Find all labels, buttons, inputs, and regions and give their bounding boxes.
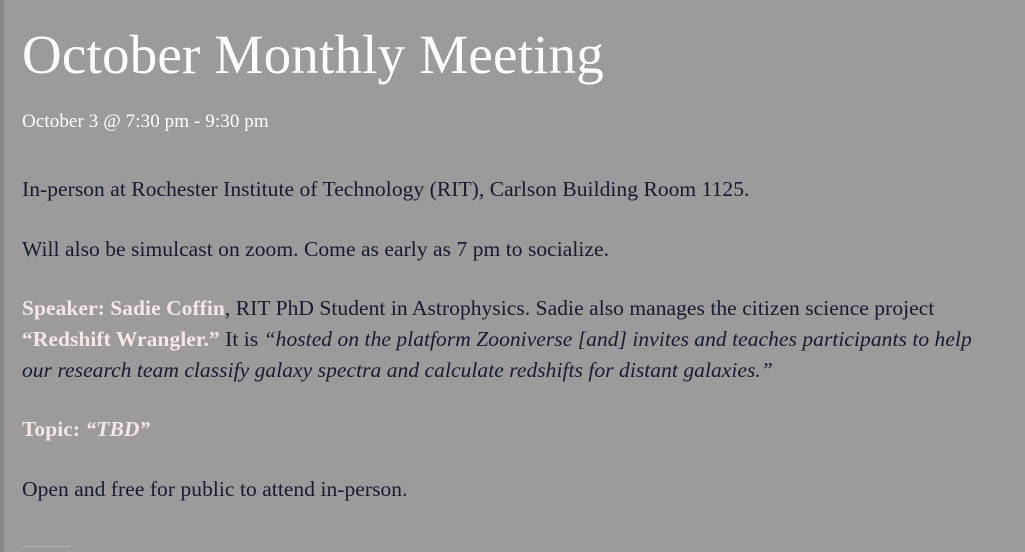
topic-label: Topic: xyxy=(22,417,85,441)
speaker-bio-text: , RIT PhD Student in Astrophysics. Sadie… xyxy=(225,296,934,320)
open-to-public-paragraph: Open and free for public to attend in-pe… xyxy=(22,474,1007,505)
speaker-paragraph: Speaker: Sadie Coffin, RIT PhD Student i… xyxy=(22,293,1007,385)
quote-connector-text: It is xyxy=(220,327,264,351)
left-edge-accent-band xyxy=(0,0,4,552)
event-datetime: October 3 @ 7:30 pm - 9:30 pm xyxy=(22,84,1007,135)
page-title: October Monthly Meeting xyxy=(22,0,1007,84)
simulcast-paragraph: Will also be simulcast on zoom. Come as … xyxy=(22,234,1007,265)
project-name-label: “Redshift Wrangler.” xyxy=(22,327,220,351)
event-page: October Monthly Meeting October 3 @ 7:30… xyxy=(0,0,1025,552)
location-paragraph: In-person at Rochester Institute of Tech… xyxy=(22,174,1007,205)
section-divider xyxy=(22,546,70,547)
speaker-name-label: Speaker: Sadie Coffin xyxy=(22,296,225,320)
event-description: In-person at Rochester Institute of Tech… xyxy=(22,134,1007,504)
topic-value: “TBD” xyxy=(85,417,150,441)
topic-paragraph: Topic: “TBD” xyxy=(22,414,1007,445)
